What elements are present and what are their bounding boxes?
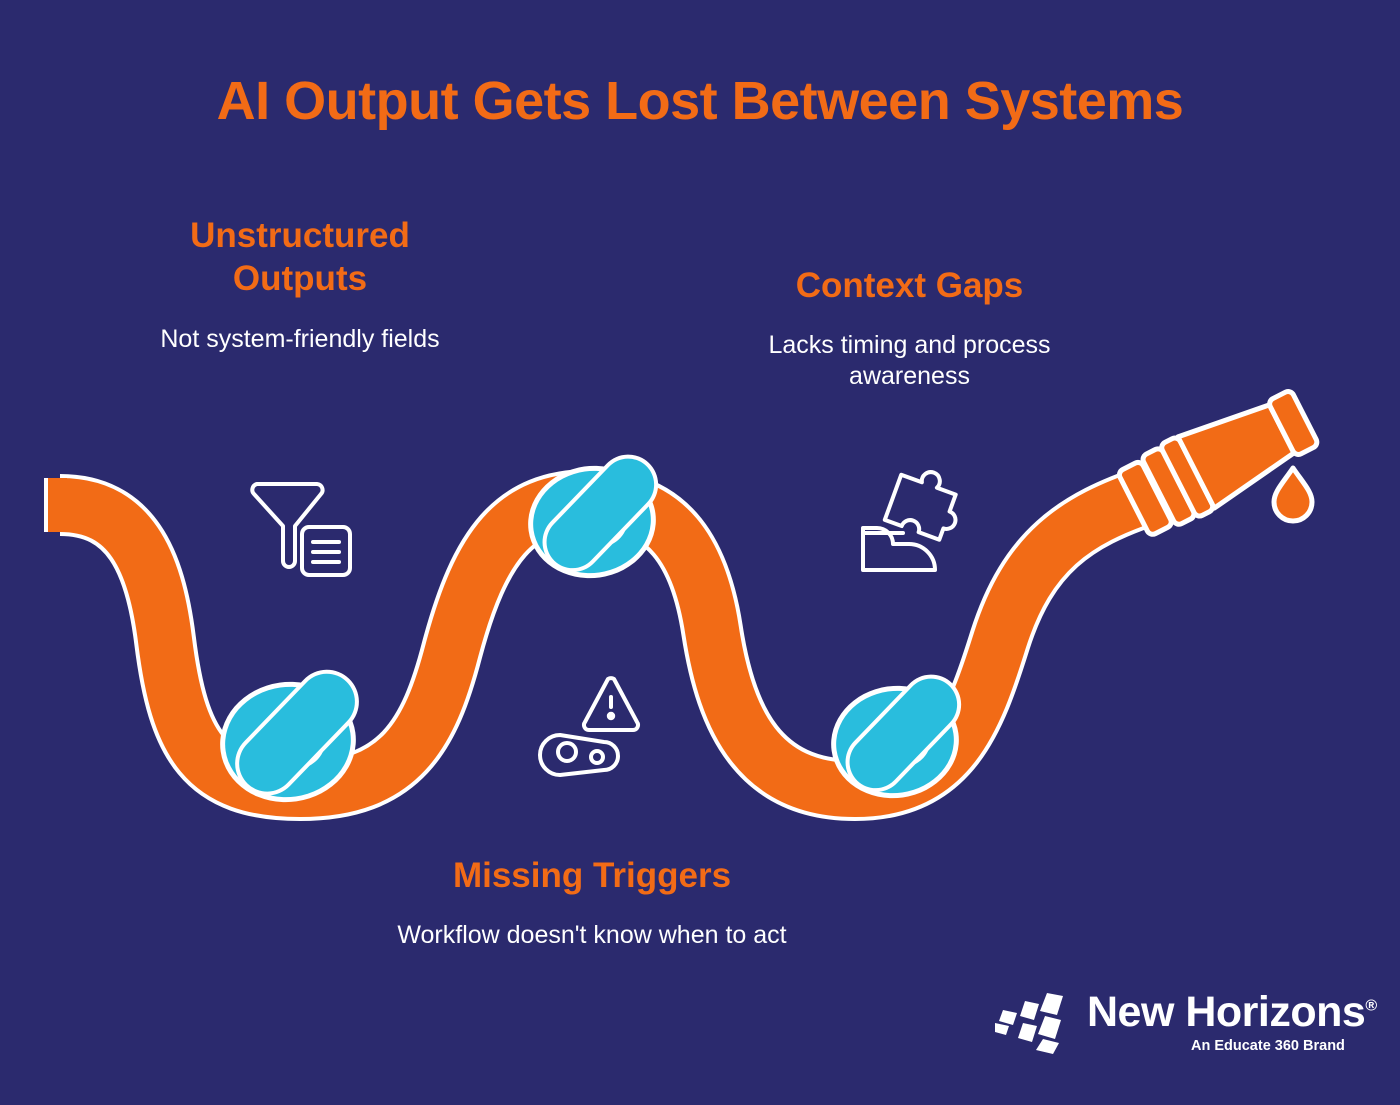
new-horizons-swoosh-icon bbox=[995, 992, 1081, 1054]
warning-triangle-pulley-icon bbox=[540, 678, 638, 775]
page-title: AI Output Gets Lost Between Systems bbox=[0, 72, 1400, 131]
callout-body: Lacks timing and process awareness bbox=[722, 330, 1097, 393]
callout-heading: Unstructured Outputs bbox=[135, 215, 465, 300]
water-droplet-icon bbox=[1274, 468, 1312, 521]
registered-mark: ® bbox=[1365, 998, 1376, 1015]
puzzle-piece-slot-icon bbox=[863, 462, 969, 570]
logo-name: New Horizons bbox=[1087, 988, 1365, 1036]
logo-wordmark: New Horizons® bbox=[1087, 988, 1377, 1037]
new-horizons-logo: New Horizons® An Educate 360 Brand bbox=[995, 990, 1325, 1062]
callout-heading: Context Gaps bbox=[722, 265, 1097, 308]
funnel-document-icon bbox=[252, 484, 350, 575]
callout-missing-triggers: Missing Triggers Workflow doesn't know w… bbox=[392, 855, 792, 951]
callout-context-gaps: Context Gaps Lacks timing and process aw… bbox=[722, 265, 1097, 392]
callout-unstructured-outputs: Unstructured Outputs Not system-friendly… bbox=[135, 215, 465, 356]
logo-tagline: An Educate 360 Brand bbox=[1191, 1038, 1345, 1054]
infographic-canvas: AI Output Gets Lost Between Systems Unst… bbox=[0, 0, 1400, 1105]
callout-body: Not system-friendly fields bbox=[135, 324, 465, 355]
hose-open-end bbox=[45, 478, 67, 532]
callout-heading: Missing Triggers bbox=[392, 855, 792, 898]
callout-body: Workflow doesn't know when to act bbox=[392, 920, 792, 951]
